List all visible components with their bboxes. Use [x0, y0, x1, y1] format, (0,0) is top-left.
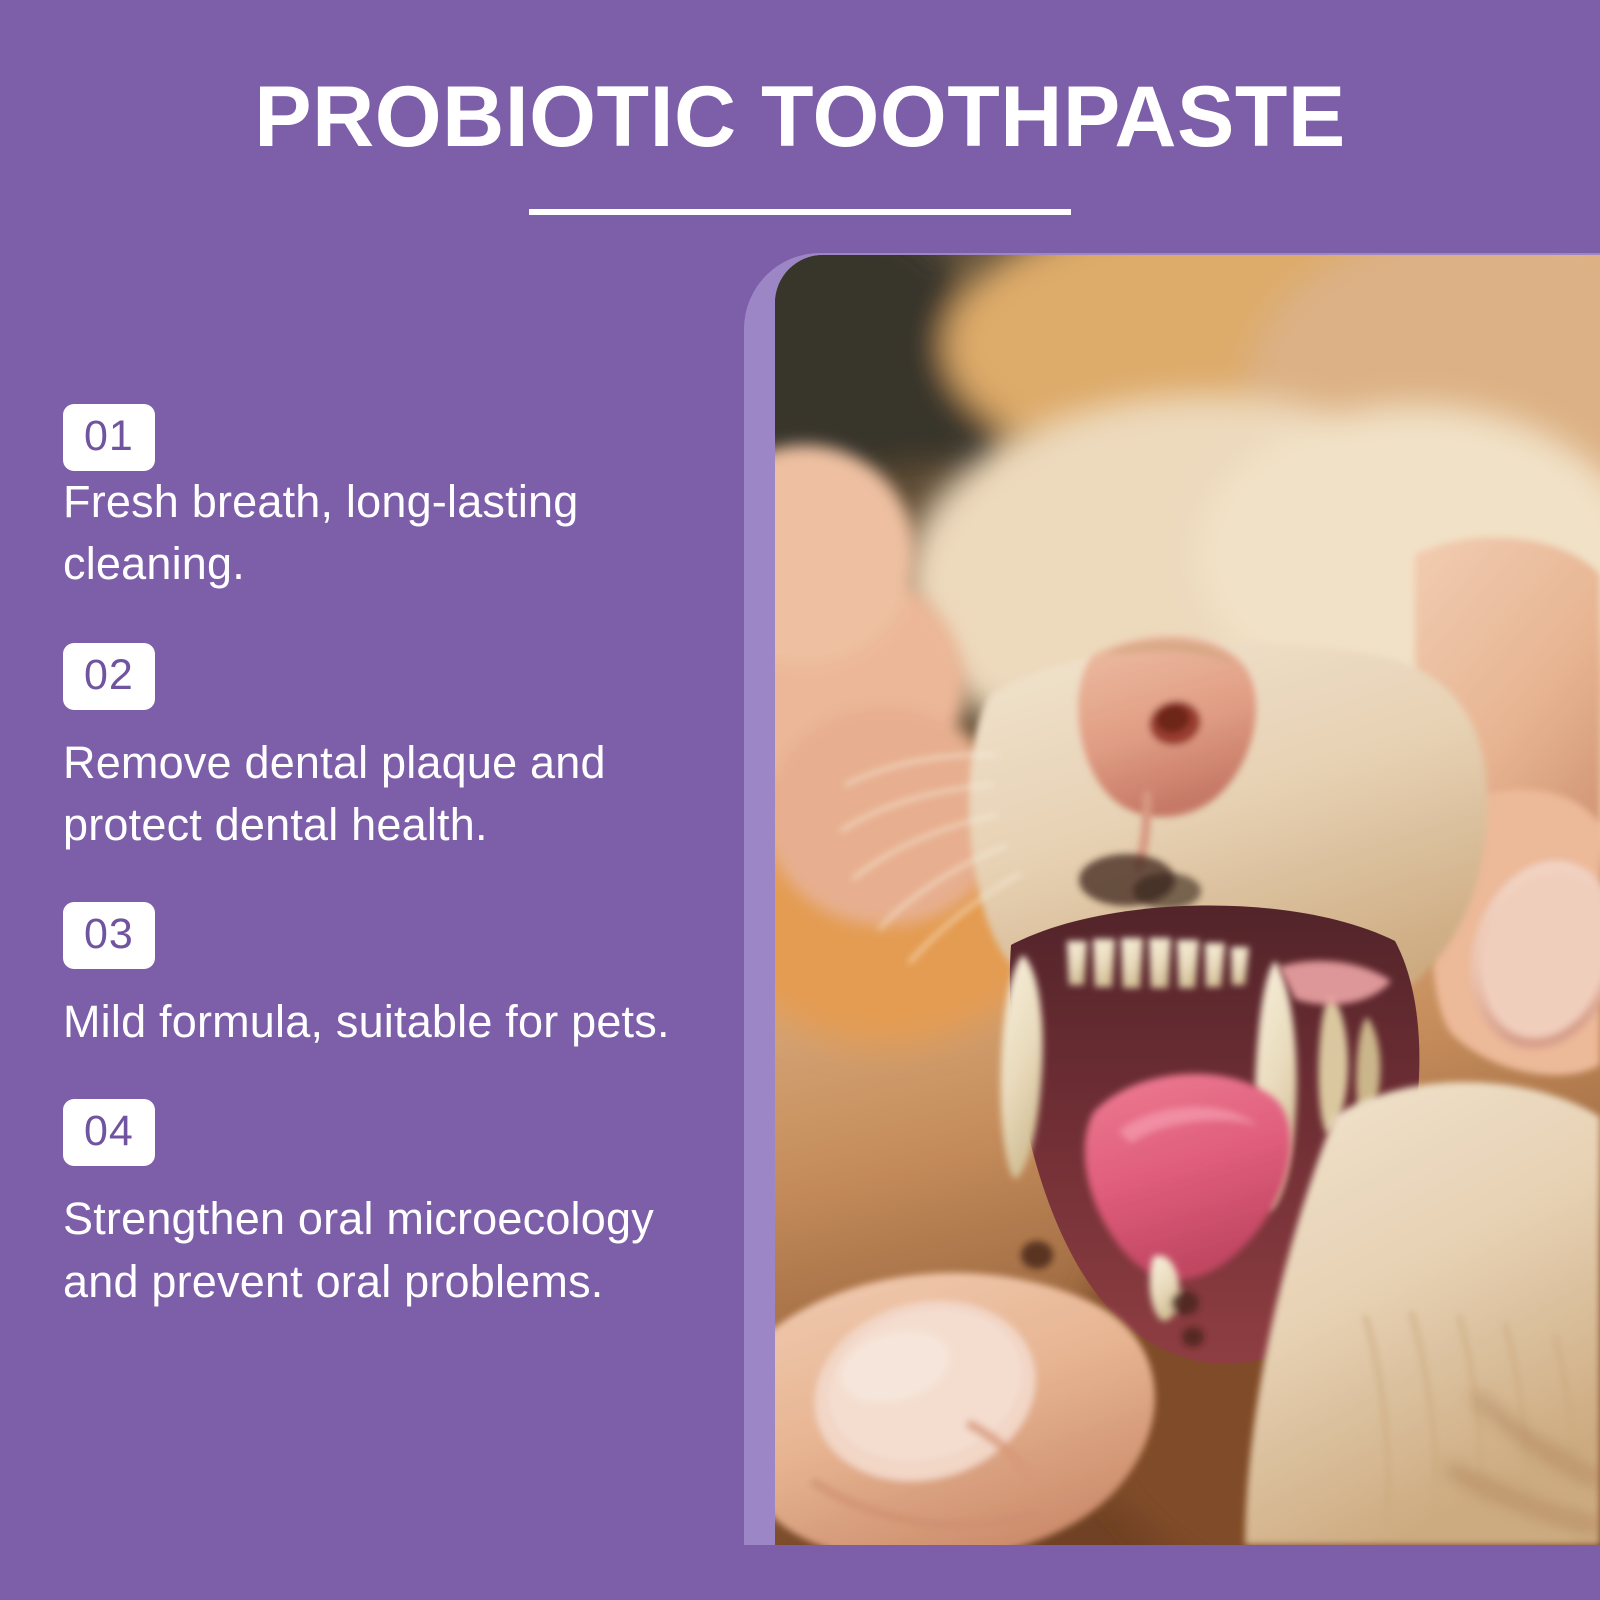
- title-divider: [529, 209, 1071, 215]
- feature-item-04: 04 Strengthen oral microecology and prev…: [63, 1099, 683, 1312]
- feature-text-04: Strengthen oral microecology and prevent…: [63, 1188, 673, 1312]
- page-title: PROBIOTIC TOOTHPASTE: [0, 72, 1600, 162]
- cat-mouth-photo-illustration: [775, 255, 1600, 1545]
- poster-header: PROBIOTIC TOOTHPASTE: [0, 0, 1600, 215]
- product-feature-poster: PROBIOTIC TOOTHPASTE 01 Fresh breath, lo…: [0, 0, 1600, 1600]
- feature-text-02: Remove dental plaque and protect dental …: [63, 732, 673, 856]
- feature-item-02: 02 Remove dental plaque and protect dent…: [63, 643, 683, 856]
- feature-item-01: 01 Fresh breath, long-lasting cleaning.: [63, 404, 683, 595]
- feature-item-03: 03 Mild formula, suitable for pets.: [63, 902, 683, 1053]
- product-photo: [775, 255, 1600, 1545]
- feature-list: 01 Fresh breath, long-lasting cleaning. …: [63, 404, 683, 1313]
- feature-number-badge-02: 02: [63, 643, 155, 710]
- feature-number-badge-01: 01: [63, 404, 155, 471]
- feature-text-01: Fresh breath, long-lasting cleaning.: [63, 471, 673, 595]
- feature-number-badge-04: 04: [63, 1099, 155, 1166]
- feature-text-03: Mild formula, suitable for pets.: [63, 991, 673, 1053]
- feature-number-badge-03: 03: [63, 902, 155, 969]
